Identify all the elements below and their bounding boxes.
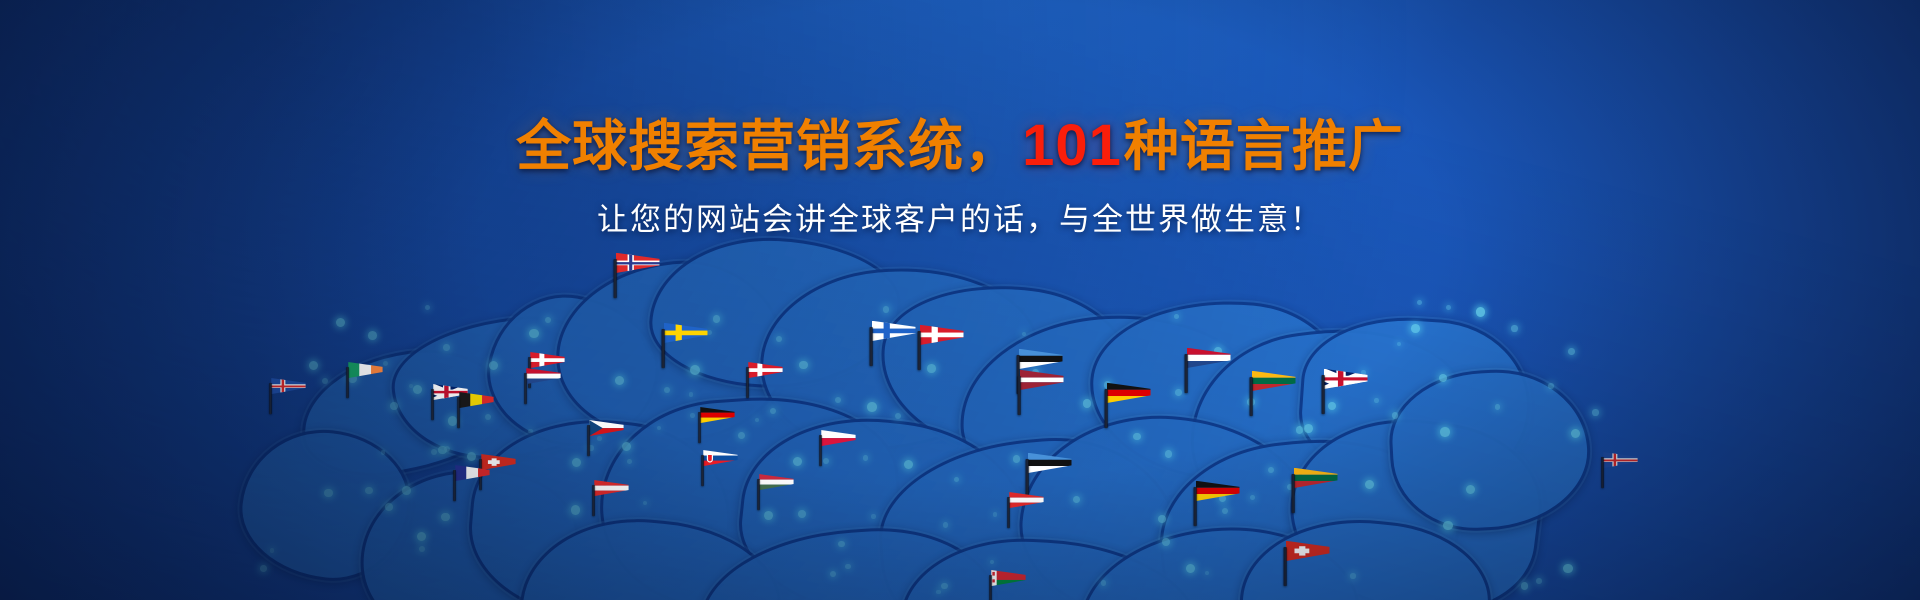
flag-pole — [870, 327, 873, 366]
flag-pole — [269, 383, 271, 414]
city-light — [1374, 398, 1379, 403]
flag-cloth-netherlands — [526, 368, 561, 384]
flag-pin-netherlands — [1183, 348, 1233, 393]
flag-cloth-iceland — [271, 378, 306, 394]
flag-cloth-netherlands — [1187, 348, 1231, 368]
flag-cloth-austria — [1009, 492, 1044, 508]
city-light — [1083, 399, 1092, 408]
flag-pin-iceland — [1600, 452, 1640, 488]
city-light — [1174, 314, 1179, 319]
flag-pole — [1292, 474, 1295, 513]
city-light — [895, 413, 901, 419]
flag-cloth-france — [455, 465, 490, 481]
flag-pole — [614, 259, 617, 298]
city-light — [1476, 307, 1486, 317]
flag-pin-poland — [818, 430, 858, 466]
flag-pin-unitedkingdom — [1320, 369, 1370, 414]
city-light — [713, 315, 721, 323]
flag-pin-lithuania — [1248, 371, 1298, 416]
flag-cloth-iceland — [1603, 452, 1638, 468]
flag-pole — [1250, 377, 1253, 416]
city-light — [941, 583, 947, 589]
city-light — [615, 376, 624, 385]
flag-pole — [453, 470, 455, 501]
city-light — [799, 361, 808, 370]
page-title: 全球搜索营销系统，101种语言推广 — [0, 112, 1920, 180]
flag-pole — [1284, 547, 1287, 586]
city-light — [1365, 480, 1374, 489]
banner-copy: 全球搜索营销系统，101种语言推广 让您的网站会讲全球客户的话，与全世界做生意！ — [0, 112, 1920, 239]
flag-cloth-estonia — [1019, 349, 1063, 369]
flag-pin-norway — [612, 253, 662, 298]
city-light — [943, 522, 948, 527]
flag-pole — [524, 373, 526, 404]
city-light — [690, 413, 695, 418]
flag-pin-switzerland — [1282, 541, 1332, 586]
flag-cloth-slovakia — [703, 450, 738, 466]
flag-pole — [757, 479, 759, 510]
flag-pin-denmark — [745, 362, 785, 398]
city-light — [443, 344, 450, 351]
flag-pin-slovakia — [700, 450, 740, 486]
flag-cloth-belgium — [459, 392, 494, 408]
city-light — [936, 590, 940, 594]
headline-language-count: 101 — [1020, 113, 1124, 178]
flag-pin-germany — [1192, 481, 1242, 526]
flag-pin-germany — [697, 407, 737, 443]
flag-pin-belarus — [988, 570, 1028, 600]
city-light — [1268, 467, 1274, 473]
city-light — [838, 541, 845, 548]
flag-pin-netherlands — [523, 368, 563, 404]
city-light — [260, 565, 267, 572]
flag-cloth-germany — [700, 407, 735, 423]
hero-banner: 全球搜索营销系统，101种语言推广 让您的网站会讲全球客户的话，与全世界做生意！ — [0, 0, 1920, 600]
flag-pin-france — [452, 465, 492, 501]
flag-cloth-sweden — [664, 323, 708, 343]
flag-cloth-lithuania — [1252, 371, 1296, 391]
flag-cloth-denmark — [748, 362, 783, 378]
city-light — [1511, 325, 1517, 331]
city-light — [528, 429, 532, 433]
flag-pole — [1018, 376, 1021, 415]
city-light — [1411, 324, 1420, 333]
flag-pole — [746, 367, 748, 398]
city-light — [871, 514, 876, 519]
flag-cloth-ireland — [348, 362, 383, 378]
city-light — [1175, 389, 1182, 396]
city-light — [1440, 427, 1450, 437]
flag-pole — [1601, 457, 1603, 488]
city-light — [1162, 538, 1170, 546]
flag-cloth-hungary — [759, 474, 794, 490]
flag-cloth-lithuania — [1294, 468, 1338, 488]
city-light — [1446, 305, 1451, 310]
flag-cloth-denmark — [920, 325, 964, 345]
flag-pin-belgium — [456, 392, 496, 428]
city-light — [1592, 409, 1598, 415]
city-light — [867, 402, 877, 412]
flag-pole — [918, 331, 921, 370]
flag-cloth-denmark — [530, 352, 565, 368]
city-light — [270, 548, 275, 553]
flag-pole — [431, 389, 433, 420]
city-light — [1013, 455, 1020, 462]
flag-pin-iceland — [268, 378, 308, 414]
flag-pin-ireland — [345, 362, 385, 398]
city-light — [1158, 515, 1166, 523]
city-light — [657, 426, 661, 430]
city-light — [738, 432, 745, 439]
flag-cloth-austria — [594, 480, 629, 496]
flag-pole — [698, 412, 700, 443]
city-light — [1568, 348, 1575, 355]
city-light — [664, 387, 670, 393]
flag-cloth-czechia — [589, 420, 624, 436]
flag-pole — [457, 397, 459, 428]
city-light — [845, 564, 850, 569]
flag-pole — [1007, 497, 1009, 528]
flag-pole — [1185, 354, 1188, 393]
flag-pin-sweden — [660, 323, 710, 368]
headline-part2: 种语言推广 — [1124, 115, 1404, 177]
flag-pole — [592, 485, 594, 516]
flag-cloth-belarus — [991, 570, 1026, 586]
city-light — [1101, 580, 1107, 586]
flag-pin-czechia — [586, 420, 626, 456]
city-light — [1296, 426, 1304, 434]
flag-cloth-latvia — [1020, 370, 1064, 390]
flag-cloth-norway — [616, 253, 660, 273]
city-light — [1350, 573, 1356, 579]
flag-pin-latvia — [1016, 370, 1066, 415]
flag-pole — [1194, 487, 1197, 526]
page-subtitle: 让您的网站会讲全球客户的话，与全世界做生意！ — [0, 194, 1920, 239]
flag-pole — [1105, 389, 1108, 428]
flag-pole — [587, 425, 589, 456]
flag-cloth-germany — [1196, 481, 1240, 501]
flag-cloth-poland — [821, 430, 856, 446]
flag-pin-denmark — [916, 325, 966, 370]
flag-cloth-unitedkingdom — [1324, 369, 1368, 389]
city-light — [1165, 450, 1172, 457]
city-light — [1548, 383, 1554, 389]
flag-pole — [989, 575, 991, 600]
city-light — [1563, 564, 1573, 574]
flag-pin-austria — [591, 480, 631, 516]
headline-part1: 全球搜索营销系统， — [516, 115, 1020, 177]
flag-pin-finland — [868, 321, 918, 366]
flag-cloth-finland — [872, 321, 916, 341]
flag-pin-germany — [1103, 383, 1153, 428]
flag-cloth-germany — [1107, 383, 1151, 403]
city-light — [390, 402, 398, 410]
flag-pole — [346, 367, 348, 398]
city-light — [993, 512, 997, 516]
flag-pole — [701, 455, 703, 486]
flag-pole — [819, 435, 821, 466]
city-light — [402, 486, 411, 495]
city-light — [1495, 404, 1501, 410]
city-light — [529, 329, 539, 339]
flag-pin-lithuania — [1290, 468, 1340, 513]
flag-pole — [662, 329, 665, 368]
city-light — [883, 306, 889, 312]
flag-pole — [1322, 375, 1325, 414]
city-light — [1536, 578, 1542, 584]
city-light — [904, 460, 913, 469]
flag-cloth-switzerland — [1286, 541, 1330, 561]
earth-globe — [0, 0, 1920, 600]
city-light — [324, 489, 332, 497]
flag-cloth-estonia — [1028, 453, 1072, 473]
city-light — [571, 505, 580, 514]
city-light — [385, 503, 393, 511]
flag-pin-austria — [1006, 492, 1046, 528]
flag-pin-hungary — [756, 474, 796, 510]
